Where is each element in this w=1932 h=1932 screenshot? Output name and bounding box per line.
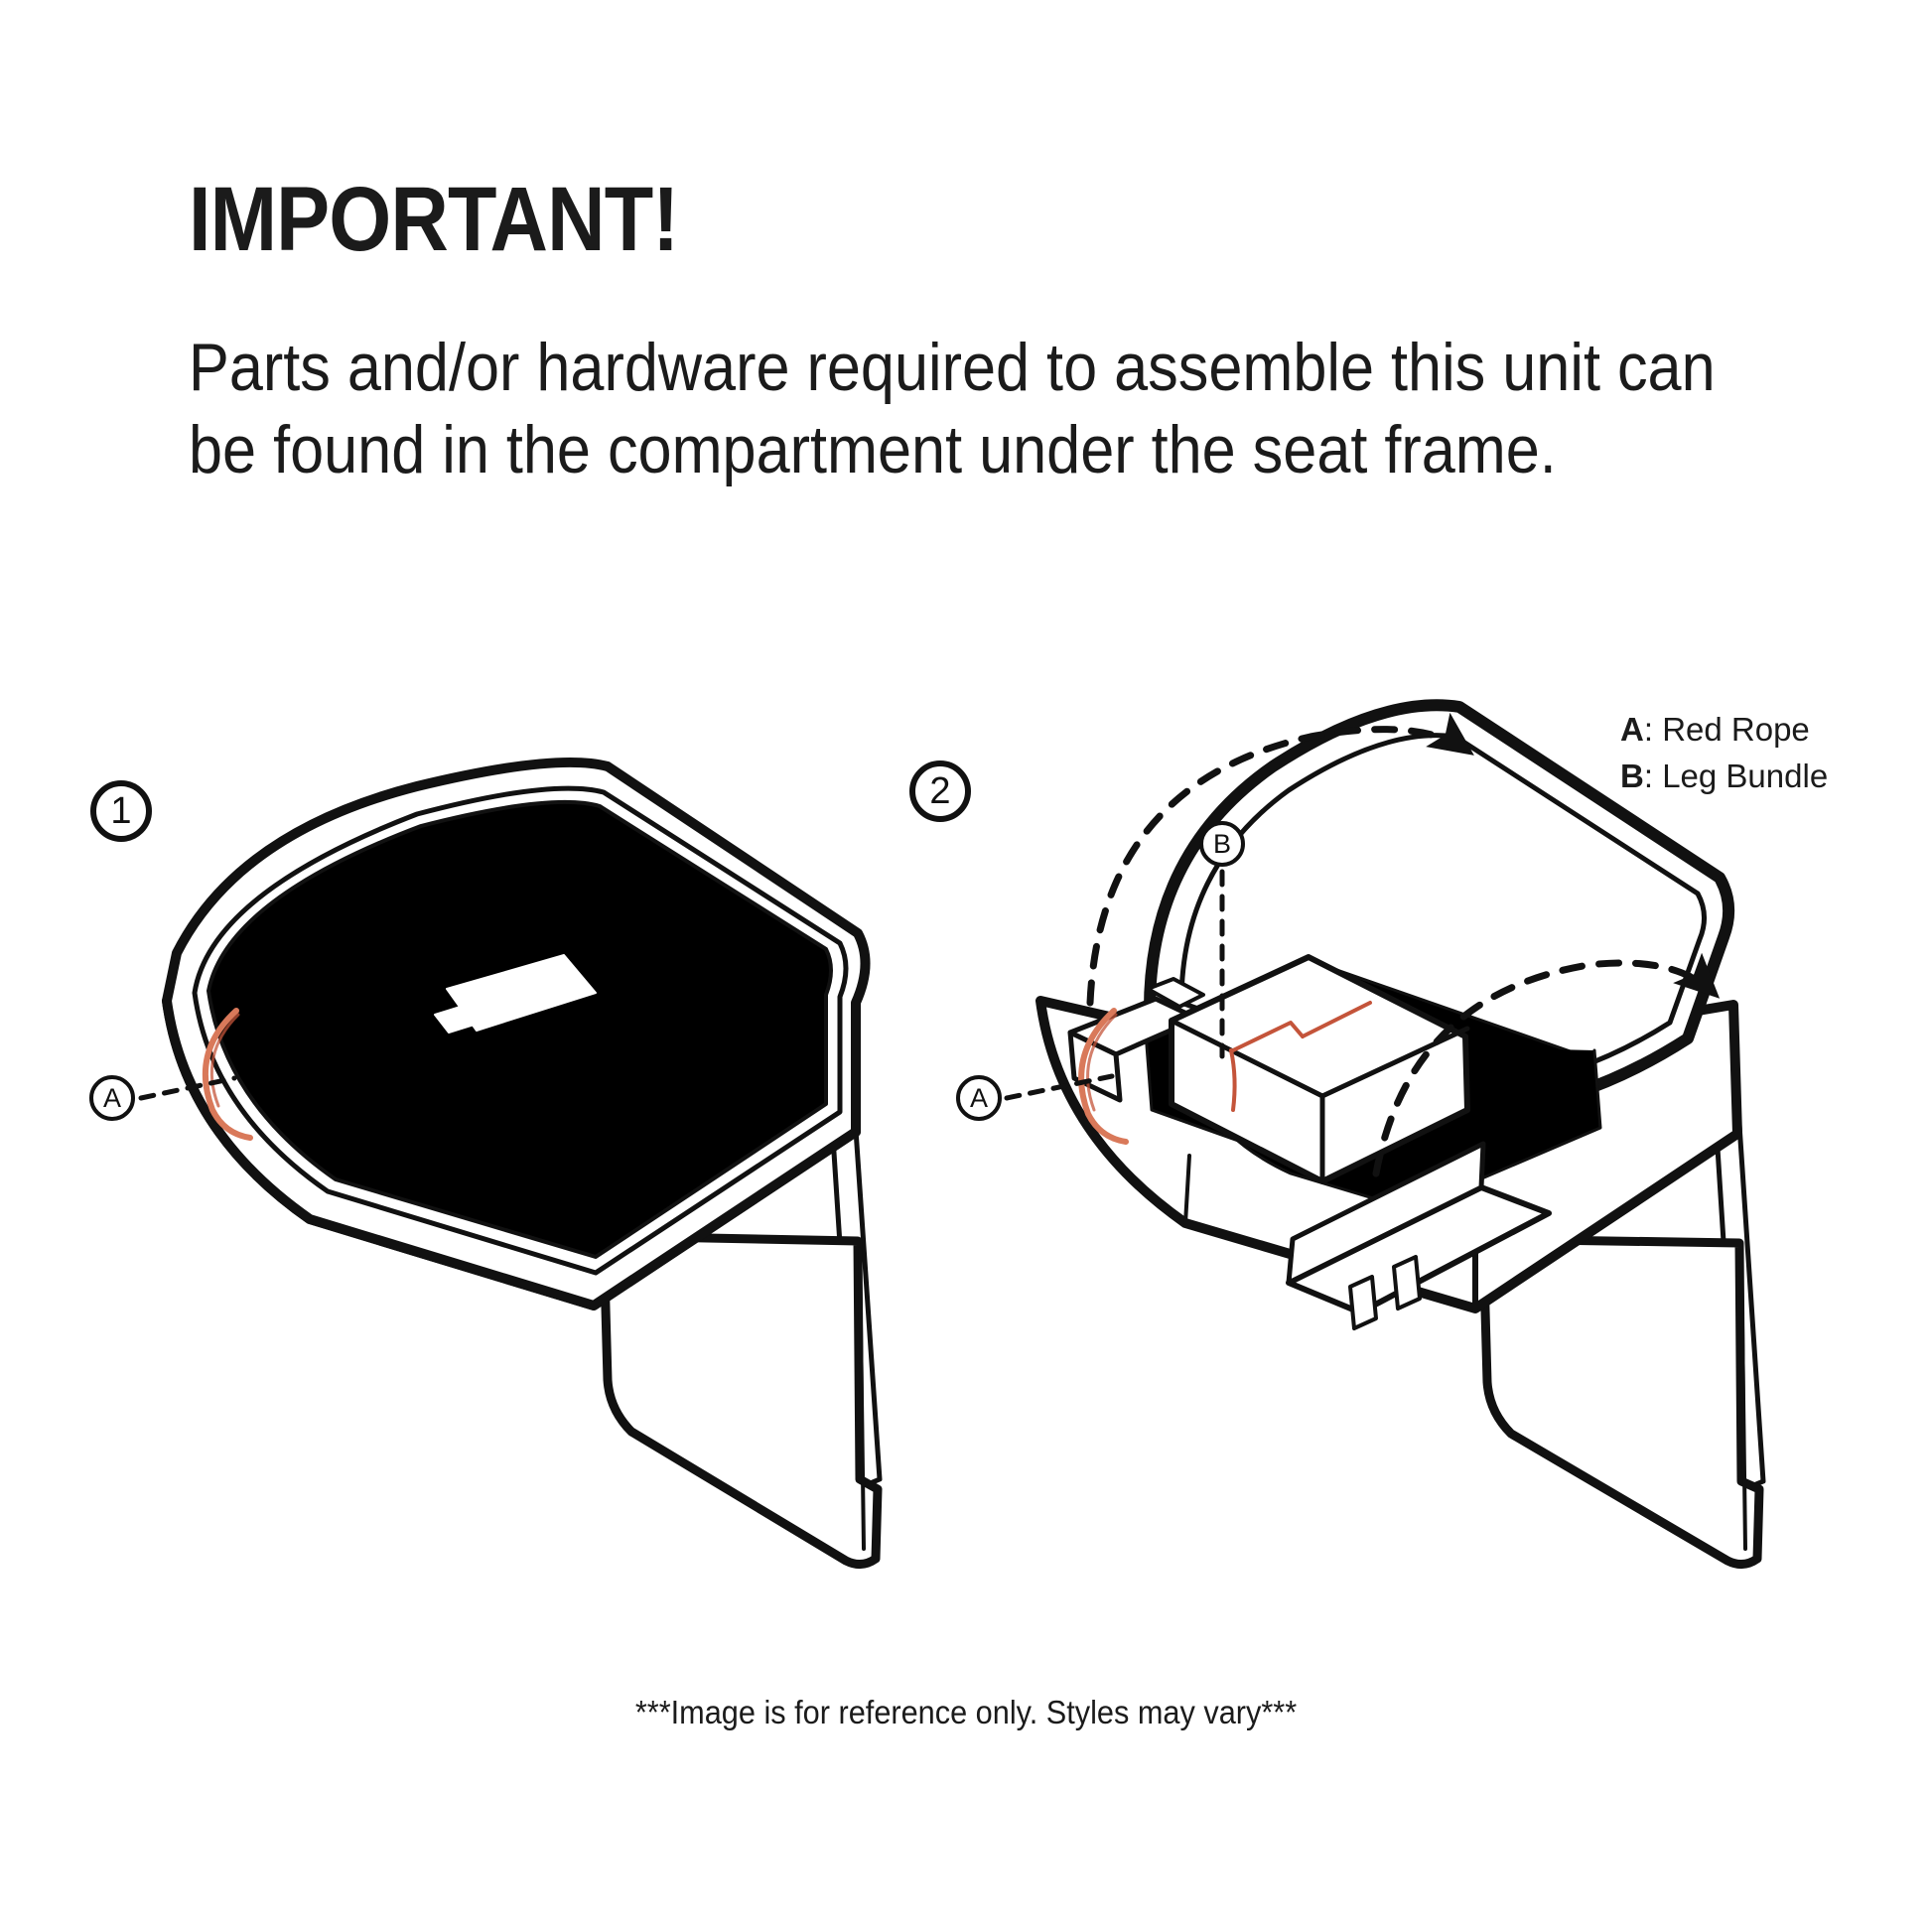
legend-sep-b: : [1644, 758, 1662, 794]
step1-leg-front [604, 1236, 878, 1565]
instruction-paragraph: Parts and/or hardware required to assemb… [189, 327, 1654, 491]
step1-callout-a-leader [141, 1078, 234, 1098]
callout-marker-b-step2: B [1199, 821, 1245, 867]
step1-seat-body [167, 1001, 856, 1306]
step2-compartment-interior [1146, 967, 1600, 1209]
step1-figure [141, 762, 880, 1565]
step2-seat-apron [1040, 1001, 1737, 1309]
rotation-arrow-upper [1090, 730, 1467, 1003]
legend-label-a: Red Rope [1662, 711, 1810, 748]
step1-leg-back [832, 1122, 880, 1489]
step-number-1: 1 [90, 780, 152, 842]
callout-marker-a-step1: A [89, 1075, 135, 1121]
step1-label-tag [435, 955, 596, 1033]
step2-leg-bundle [1172, 957, 1467, 1181]
instruction-line-1: Parts and/or hardware required to assemb… [189, 327, 1654, 409]
legend-label-b: Leg Bundle [1662, 758, 1828, 794]
rotation-arrow-lower [1376, 963, 1714, 1173]
header-block: IMPORTANT! Parts and/or hardware require… [189, 174, 1817, 491]
step2-compartment-frame [1070, 979, 1549, 1328]
step1-seat-rim [167, 762, 866, 1306]
parts-legend: A: Red Rope B: Leg Bundle [1620, 707, 1828, 800]
callout-marker-a-step2: A [956, 1075, 1002, 1121]
legend-key-b: B [1620, 758, 1644, 794]
reference-disclaimer: ***Image is for reference only. Styles m… [68, 1694, 1864, 1731]
step2-figure [1007, 705, 1763, 1564]
legend-item-a: A: Red Rope [1620, 707, 1828, 754]
legend-key-a: A [1620, 711, 1644, 748]
step2-leg-back [1716, 1117, 1763, 1491]
step-number-2: 2 [909, 760, 971, 822]
instruction-line-2: be found in the compartment under the se… [189, 409, 1654, 491]
step1-red-rope [206, 1011, 250, 1138]
step1-cushion-top [208, 802, 831, 1257]
step2-leg-front [1483, 1239, 1759, 1565]
page-title: IMPORTANT! [189, 174, 1621, 265]
step2-red-rope [1081, 1011, 1126, 1142]
legend-sep-a: : [1644, 711, 1662, 748]
step2-callout-a-leader [1007, 1076, 1112, 1098]
instruction-sheet: IMPORTANT! Parts and/or hardware require… [0, 0, 1932, 1932]
legend-item-b: B: Leg Bundle [1620, 754, 1828, 800]
